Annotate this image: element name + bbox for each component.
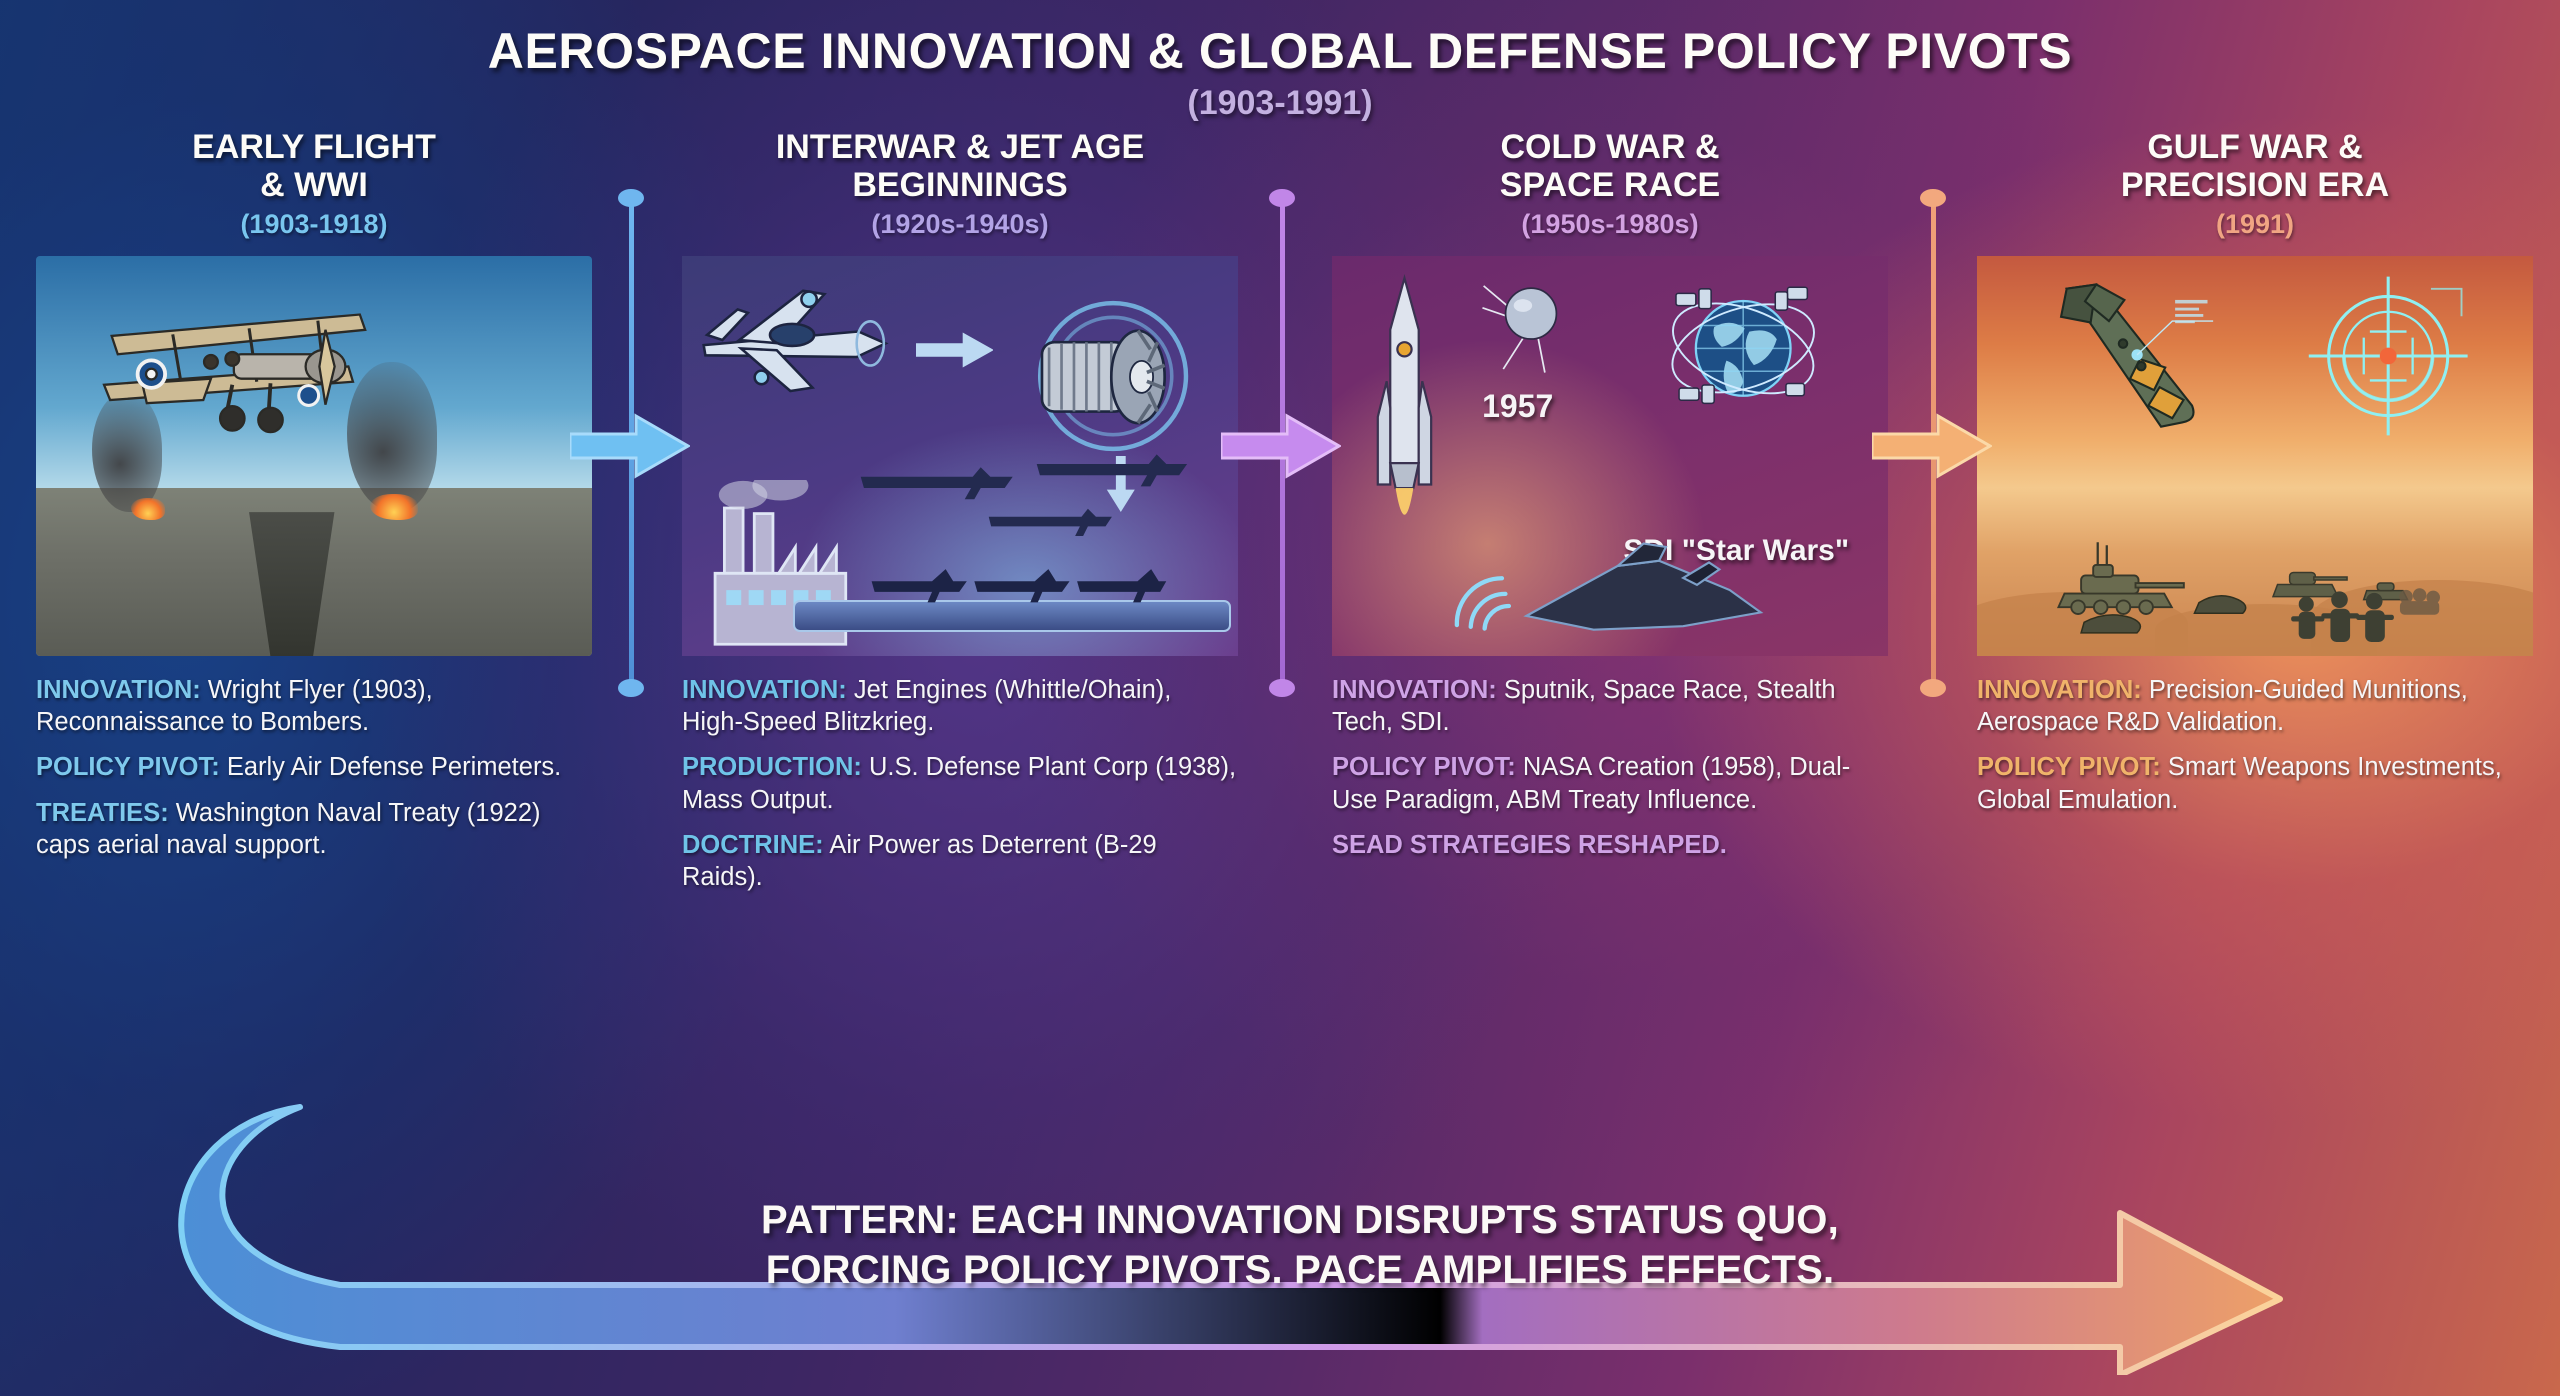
column-heading: INTERWAR & JET AGE BEGINNINGS xyxy=(660,128,1260,204)
guided-bomb-targeting-reticle-desert-illustration xyxy=(1977,256,2533,656)
fact-label: INNOVATION: xyxy=(36,676,201,704)
divider-early-to-interwar xyxy=(626,198,636,688)
aircraft-on-line-icon xyxy=(815,548,1215,616)
fact-production: PRODUCTION: U.S. Defense Plant Corp (193… xyxy=(682,751,1238,815)
fact-label: DOCTRINE: xyxy=(682,831,824,859)
divider-coldwar-to-gulf xyxy=(1928,198,1938,688)
column-years: (1920s-1940s) xyxy=(660,209,1260,240)
fact-innovation: INNOVATION: Sputnik, Space Race, Stealth… xyxy=(1332,674,1888,738)
targeting-reticle-icon xyxy=(2277,272,2499,440)
biplane-icon xyxy=(58,284,425,452)
fact-label: INNOVATION: xyxy=(682,676,847,704)
divider-dot-top xyxy=(1920,189,1946,207)
fact-label: PRODUCTION: xyxy=(682,753,862,781)
rocket-icon xyxy=(1360,264,1449,552)
fact-label: POLICY PIVOT: xyxy=(1332,753,1516,781)
divider-dot-top xyxy=(1269,189,1295,207)
fact-label: INNOVATION: xyxy=(1977,676,2142,704)
divider-dot-bottom xyxy=(1269,679,1295,697)
pattern-banner-text: PATTERN: EACH INNOVATION DISRUPTS STATUS… xyxy=(600,1195,2000,1296)
fact-list: INNOVATION: Wright Flyer (1903), Reconna… xyxy=(36,674,592,861)
stealth-aircraft-icon xyxy=(1499,528,1788,640)
fact-label: INNOVATION: xyxy=(1332,676,1497,704)
divider-interwar-to-coldwar xyxy=(1277,198,1287,688)
fact-sead-strategies: SEAD STRATEGIES RESHAPED. xyxy=(1332,829,1888,861)
divider-dot-bottom xyxy=(618,679,644,697)
fact-innovation: INNOVATION: Wright Flyer (1903), Reconna… xyxy=(36,674,592,738)
column-years: (1950s-1980s) xyxy=(1310,209,1910,240)
fact-treaties: TREATIES: Washington Naval Treaty (1922)… xyxy=(36,797,592,861)
divider-dot-top xyxy=(618,189,644,207)
earth-with-satellites-icon xyxy=(1632,272,1854,440)
rocket-sputnik-satellites-stealth-illustration: 1957 xyxy=(1332,256,1888,656)
column-heading: COLD WAR & SPACE RACE xyxy=(1310,128,1910,204)
column-years: (1991) xyxy=(1955,209,2555,240)
transition-arrow-icon xyxy=(1872,408,1992,484)
propeller-plane-icon xyxy=(682,272,927,408)
wwi-biplane-over-trenches-illustration xyxy=(36,256,592,656)
fact-innovation: INNOVATION: Precision-Guided Munitions, … xyxy=(1977,674,2533,738)
tanks-and-soldiers-icon xyxy=(1988,512,2522,648)
fact-label: POLICY PIVOT: xyxy=(1977,753,2161,781)
column-heading: EARLY FLIGHT & WWI xyxy=(14,128,614,204)
fact-policy-pivot: POLICY PIVOT: Early Air Defense Perimete… xyxy=(36,751,592,783)
column-years: (1903-1918) xyxy=(14,209,614,240)
transition-arrow-icon xyxy=(570,408,690,484)
fact-label: POLICY PIVOT: xyxy=(36,753,220,781)
fact-text: Early Air Defense Perimeters. xyxy=(220,753,562,781)
propeller-plane-jet-engine-factory-illustration xyxy=(682,256,1238,656)
sputnik-year-label: 1957 xyxy=(1482,388,1553,425)
fact-list: INNOVATION: Sputnik, Space Race, Stealth… xyxy=(1332,674,1888,861)
column-gulf-war-precision: GULF WAR & PRECISION ERA (1991) xyxy=(1955,128,2555,829)
transition-arrow-icon xyxy=(1221,408,1341,484)
fact-list: INNOVATION: Jet Engines (Whittle/Ohain),… xyxy=(682,674,1238,893)
sputnik-satellite-icon xyxy=(1471,272,1593,376)
fact-policy-pivot: POLICY PIVOT: NASA Creation (1958), Dual… xyxy=(1332,751,1888,815)
page-subtitle: (1903-1991) xyxy=(0,84,2560,123)
column-heading: GULF WAR & PRECISION ERA xyxy=(1955,128,2555,204)
page-title: AEROSPACE INNOVATION & GLOBAL DEFENSE PO… xyxy=(0,22,2560,80)
fact-innovation: INNOVATION: Jet Engines (Whittle/Ohain),… xyxy=(682,674,1238,738)
fact-policy-pivot: POLICY PIVOT: Smart Weapons Investments,… xyxy=(1977,751,2533,815)
precision-guided-bomb-icon xyxy=(2005,276,2261,452)
divider-dot-bottom xyxy=(1920,679,1946,697)
fact-doctrine: DOCTRINE: Air Power as Deterrent (B-29 R… xyxy=(682,829,1238,893)
arrow-right-icon xyxy=(916,332,994,368)
column-cold-war-space-race: COLD WAR & SPACE RACE (1950s-1980s) xyxy=(1310,128,1910,874)
column-interwar-jet-age: INTERWAR & JET AGE BEGINNINGS (1920s-194… xyxy=(660,128,1260,906)
column-early-flight-wwi: EARLY FLIGHT & WWI (1903-1918) xyxy=(14,128,614,874)
fact-label: TREATIES: xyxy=(36,799,169,827)
infographic-canvas: AEROSPACE INNOVATION & GLOBAL DEFENSE PO… xyxy=(0,0,2560,1396)
fact-list: INNOVATION: Precision-Guided Munitions, … xyxy=(1977,674,2533,816)
